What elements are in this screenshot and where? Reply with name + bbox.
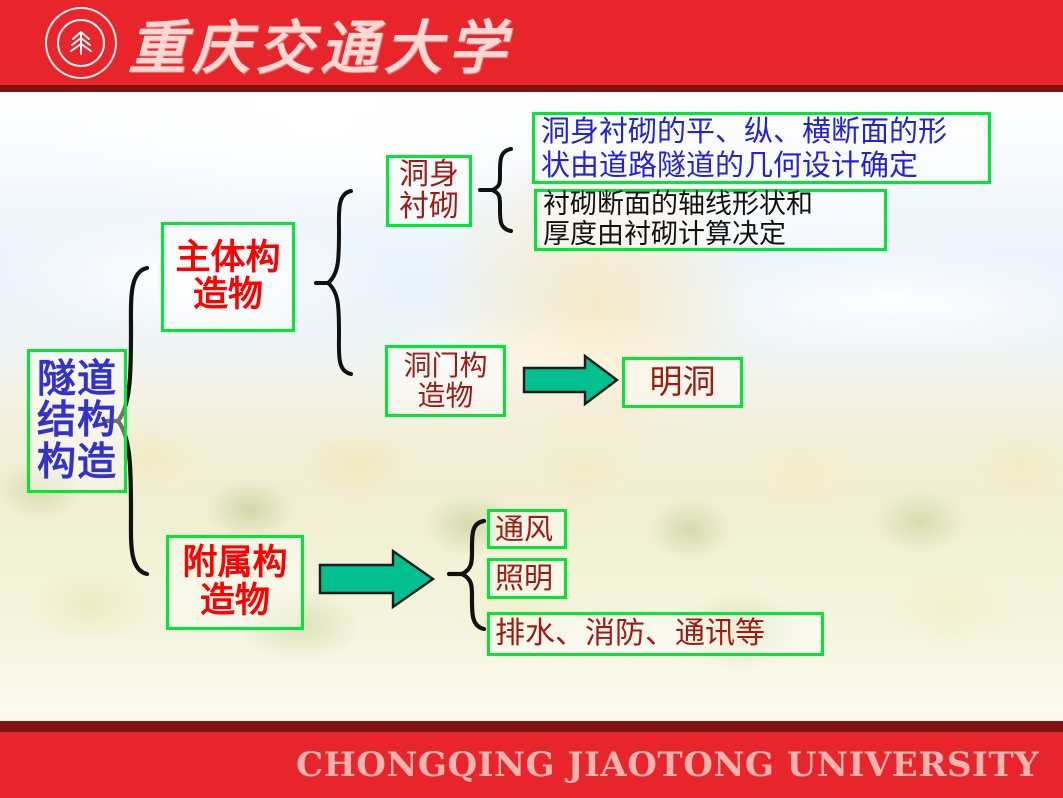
seal-pagoda-glyph: [64, 27, 98, 61]
diagram-note-lining-calculation[interactable]: 衬砌断面的轴线形状和 厚度由衬砌计算决定: [534, 189, 887, 251]
diagram-node-open-cut-tunnel[interactable]: 明洞: [622, 357, 743, 408]
diagram-node-ventilation[interactable]: 通风: [487, 509, 567, 549]
diagram-node-portal-structure[interactable]: 洞门构 造物: [385, 345, 506, 417]
footer-divider-rule: [0, 721, 1063, 732]
university-name-english: CHONGQING JIAOTONG UNIVERSITY: [296, 732, 1039, 798]
cqjtu-seal-icon: [45, 7, 117, 79]
diagram-node-tunnel-body-lining[interactable]: 洞身 衬砌: [386, 155, 472, 227]
diagram-node-tunnel-structure-root[interactable]: 隧道 结构 构造: [27, 349, 127, 493]
diagram-node-lighting[interactable]: 照明: [487, 558, 567, 599]
diagram-node-other-facilities[interactable]: 排水、消防、通讯等: [487, 612, 824, 656]
slide-canvas: 重庆交通大学 CHONGQING JIAOTONG UNIVERSITY: [0, 0, 1063, 798]
diagram-node-auxiliary-structure[interactable]: 附属构 造物: [166, 535, 304, 630]
diagram-note-lining-geometry[interactable]: 洞身衬砌的平、纵、横断面的形 状由道路隧道的几何设计确定: [532, 112, 991, 184]
university-name-chinese: 重庆交通大学: [128, 2, 512, 84]
header-divider-rule: [0, 85, 1063, 92]
diagram-node-main-structure[interactable]: 主体构 造物: [161, 222, 295, 332]
